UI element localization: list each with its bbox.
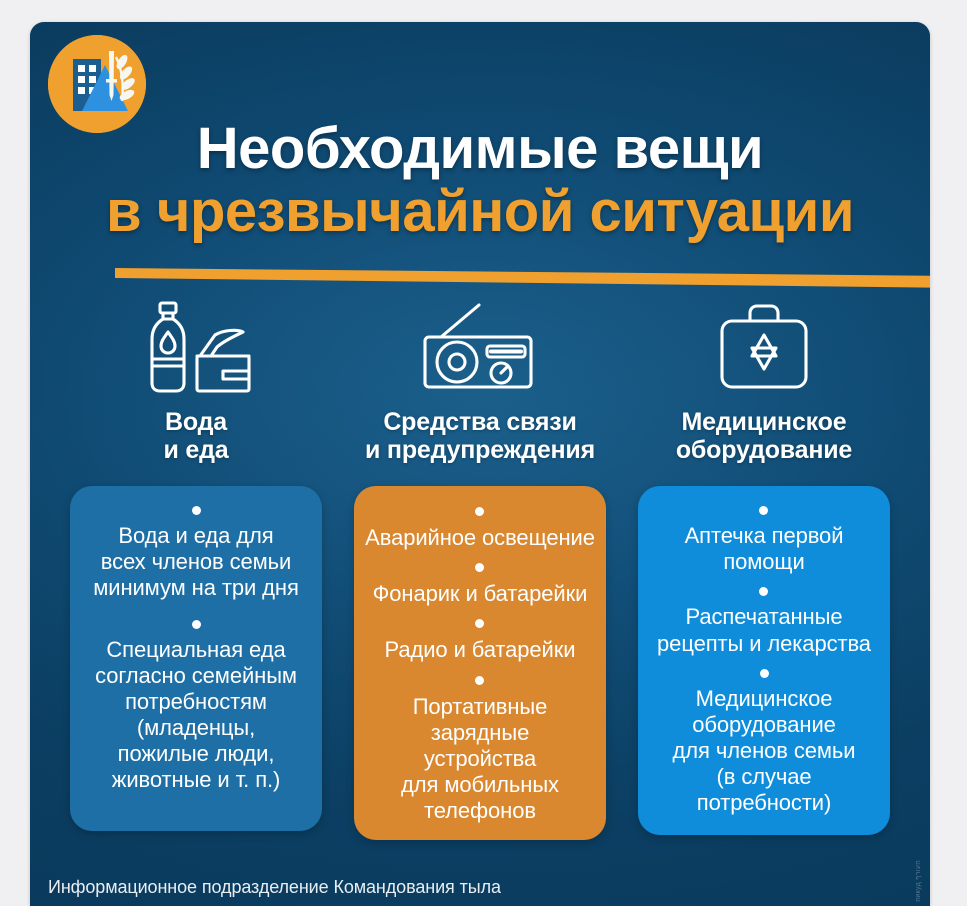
bullet-dot-icon: [759, 587, 768, 596]
category-columns: Вода и еда Вода и еда для всех членов се…: [68, 292, 892, 840]
list-item-text: Вода и еда для всех членов семьи минимум…: [93, 523, 299, 602]
card-communication: Аварийное освещение Фонарик и батарейки …: [354, 486, 606, 840]
card-water-and-food: Вода и еда для всех членов семьи минимум…: [70, 486, 322, 831]
column-medical: Медицинское оборудование Аптечка первой …: [636, 292, 892, 840]
bullet-dot-icon: [475, 619, 484, 628]
bullet-dot-icon: [192, 620, 201, 629]
bullet-dot-icon: [475, 563, 484, 572]
column-water-and-food: Вода и еда Вода и еда для всех членов се…: [68, 292, 324, 840]
title-line-1: Необходимые вещи: [30, 118, 930, 179]
home-front-command-emblem-icon: [48, 35, 146, 133]
list-item-text: Аварийное освещение: [365, 525, 595, 551]
column-communication: Средства связи и предупреждения Аварийно…: [352, 292, 608, 840]
list-item: Специальная еда согласно семейным потреб…: [95, 602, 297, 794]
bullet-dot-icon: [192, 506, 201, 515]
title-underline-swoosh-icon: [115, 265, 930, 291]
list-item-text: Распечатанные рецепты и лекарства: [657, 604, 871, 656]
bullet-dot-icon: [475, 676, 484, 685]
column-heading-communication: Средства связи и предупреждения: [365, 408, 595, 470]
list-item: Медицинское оборудование для членов семь…: [673, 657, 856, 817]
bullet-dot-icon: [475, 507, 484, 516]
list-item-text: Медицинское оборудование для членов семь…: [673, 686, 856, 817]
list-item: Аварийное освещение: [365, 500, 595, 551]
water-bottle-and-can-icon: [137, 292, 255, 402]
bullet-dot-icon: [760, 669, 769, 678]
list-item-text: Фонарик и батарейки: [373, 581, 588, 607]
footer-credit: Информационное подразделение Командовани…: [48, 877, 501, 898]
radio-icon: [417, 292, 543, 402]
medical-kit-icon: [712, 292, 816, 402]
list-item: Фонарик и батарейки: [373, 551, 588, 607]
list-item-text: Портативные зарядные устройства для моби…: [401, 694, 559, 825]
list-item-text: Специальная еда согласно семейным потреб…: [95, 637, 297, 794]
list-item-text: Радио и батарейки: [385, 637, 576, 663]
bullet-dot-icon: [759, 506, 768, 515]
list-item: Радио и батарейки: [385, 607, 576, 663]
list-item: Аптечка первой помощи: [685, 500, 844, 575]
column-heading-medical: Медицинское оборудование: [676, 408, 852, 470]
list-item: Распечатанные рецепты и лекарства: [657, 575, 871, 656]
infographic-poster: Необходимые вещи в чрезвычайной ситуации: [30, 22, 930, 906]
column-heading-water-and-food: Вода и еда: [164, 408, 229, 470]
list-item: Портативные зарядные устройства для моби…: [401, 664, 559, 825]
footer-side-credit: пикуд העורף: [915, 860, 922, 902]
title-line-2: в чрезвычайной ситуации: [30, 181, 930, 242]
card-medical: Аптечка первой помощи Распечатанные реце…: [638, 486, 890, 835]
list-item: Вода и еда для всех членов семьи минимум…: [93, 500, 299, 602]
poster-title: Необходимые вещи в чрезвычайной ситуации: [30, 118, 930, 243]
list-item-text: Аптечка первой помощи: [685, 523, 844, 575]
